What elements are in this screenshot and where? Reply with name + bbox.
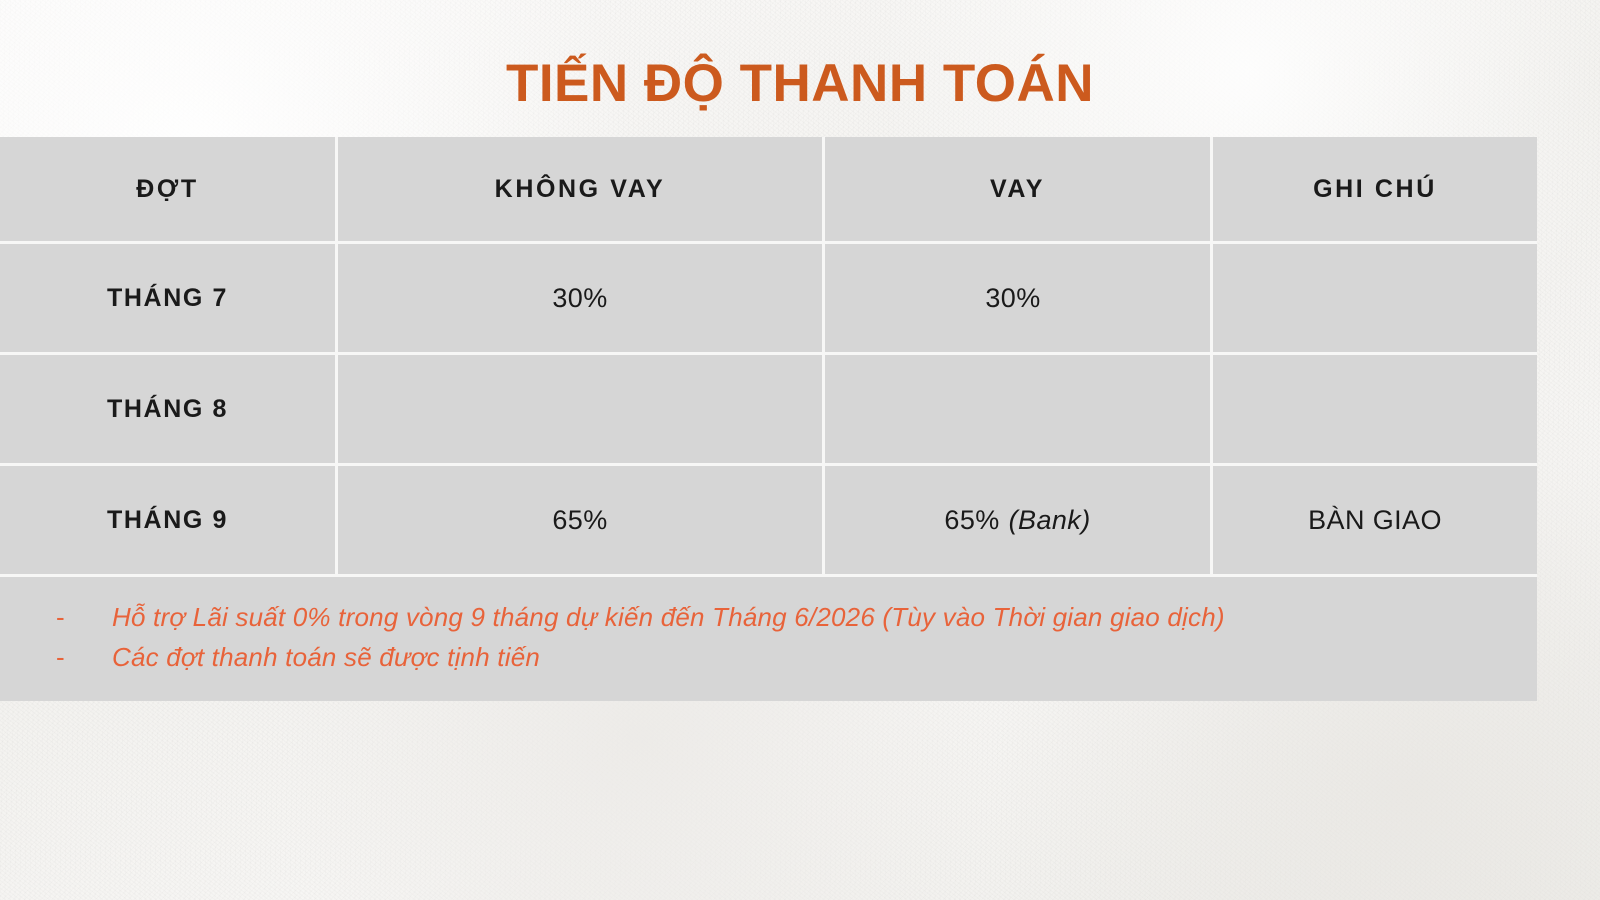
footnote-item: - Các đợt thanh toán sẽ được tịnh tiến: [56, 637, 1537, 677]
table-header-row: ĐỢT KHÔNG VAY VAY GHI CHÚ: [0, 137, 1537, 244]
column-header-ghi-chu: GHI CHÚ: [1213, 137, 1537, 241]
table-row: THÁNG 9 65% 65% (Bank) BÀN GIAO: [0, 466, 1537, 577]
cell-vay: 65% (Bank): [825, 466, 1213, 574]
cell-khong-vay: 30%: [338, 244, 825, 352]
cell-ghi-chu: [1213, 355, 1537, 463]
footnote-text: Hỗ trợ Lãi suất 0% trong vòng 9 tháng dự…: [112, 597, 1537, 637]
cell-vay: [825, 355, 1213, 463]
cell-vay-bank-note: (Bank): [1009, 505, 1091, 536]
column-header-khong-vay: KHÔNG VAY: [338, 137, 825, 241]
cell-khong-vay: 65%: [338, 466, 825, 574]
cell-period: THÁNG 9: [0, 466, 338, 574]
footnote-dash-icon: -: [56, 597, 112, 637]
cell-ghi-chu: BÀN GIAO: [1213, 466, 1537, 574]
cell-khong-vay: [338, 355, 825, 463]
footnote-item: - Hỗ trợ Lãi suất 0% trong vòng 9 tháng …: [56, 597, 1537, 637]
payment-schedule-slide: TIẾN ĐỘ THANH TOÁN ĐỢT KHÔNG VAY VAY GHI…: [0, 0, 1600, 900]
payment-schedule-table: ĐỢT KHÔNG VAY VAY GHI CHÚ THÁNG 7 30% 30…: [0, 137, 1537, 701]
cell-vay-value: 30%: [985, 283, 1040, 314]
footnote-section: - Hỗ trợ Lãi suất 0% trong vòng 9 tháng …: [0, 577, 1537, 701]
cell-period: THÁNG 7: [0, 244, 338, 352]
footnote-text: Các đợt thanh toán sẽ được tịnh tiến: [112, 637, 1537, 677]
table-row: THÁNG 8: [0, 355, 1537, 466]
footnote-dash-icon: -: [56, 637, 112, 677]
column-header-vay: VAY: [825, 137, 1213, 241]
cell-vay-value: 65%: [944, 505, 999, 536]
column-header-period: ĐỢT: [0, 137, 338, 241]
cell-vay: 30%: [825, 244, 1213, 352]
table-row: THÁNG 7 30% 30%: [0, 244, 1537, 355]
cell-period: THÁNG 8: [0, 355, 338, 463]
page-title: TIẾN ĐỘ THANH TOÁN: [0, 55, 1600, 113]
cell-ghi-chu: [1213, 244, 1537, 352]
